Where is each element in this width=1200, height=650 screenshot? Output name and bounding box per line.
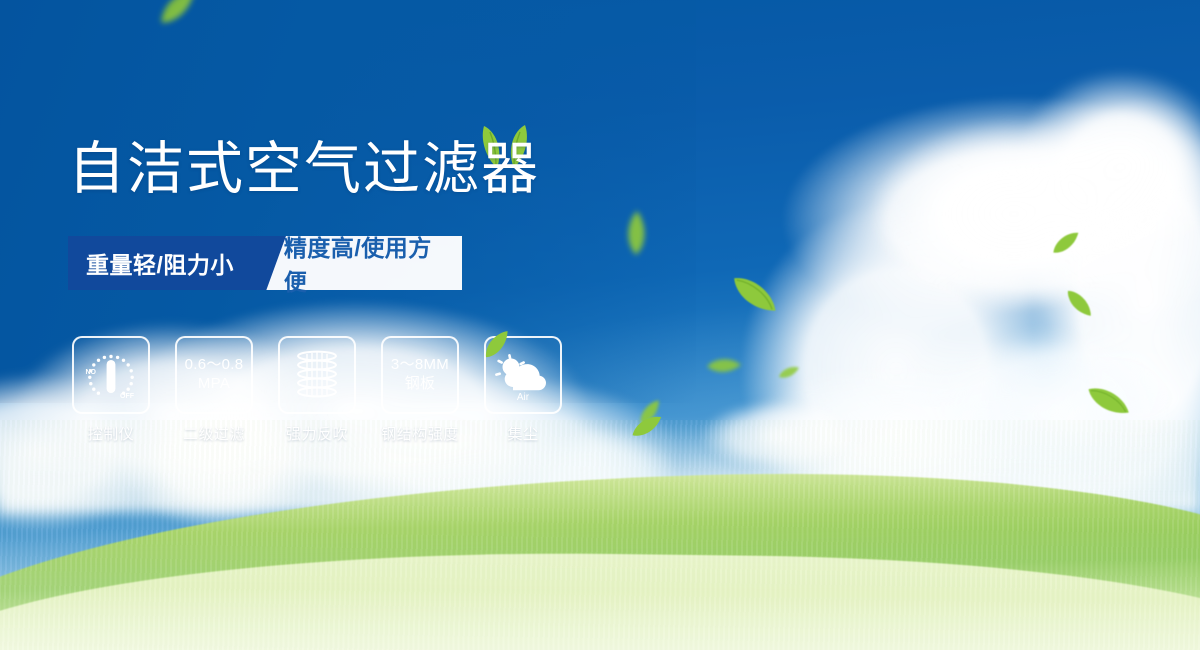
feature-label: 钢结构强度 <box>381 423 459 444</box>
feature-label: 二级过滤 <box>183 423 245 444</box>
pressure-unit: MPA <box>185 375 244 394</box>
product-hero-banner: 自洁式空气过滤器 重量轻/阻力小 精度高/使用方便 <box>0 0 1200 650</box>
pressure-value: 0.6～0.8 <box>185 356 244 375</box>
cloud-air-icon: Air <box>484 336 562 414</box>
dial-gauge-icon: NO OFF <box>72 336 150 414</box>
coil-filter-icon <box>278 336 356 414</box>
feature-item-dust[interactable]: Air 集尘 <box>485 336 561 444</box>
page-title: 自洁式空气过滤器 <box>68 141 540 198</box>
feature-icon-row: NO OFF 控制仪 0.6～0.8 MPA 二级过滤 <box>73 336 561 444</box>
svg-text:OFF: OFF <box>120 393 135 400</box>
steel-thickness: 3～8MM <box>391 356 449 375</box>
feature-item-control[interactable]: NO OFF 控制仪 <box>73 336 149 444</box>
subtitle-left-label: 重量轻/阻力小 <box>68 236 250 290</box>
cloud-air-text: Air <box>517 392 530 403</box>
feature-label: 控制仪 <box>88 423 135 444</box>
feature-item-filtration[interactable]: 0.6～0.8 MPA 二级过滤 <box>176 336 252 444</box>
steel-material: 钢板 <box>391 375 449 394</box>
svg-text:NO: NO <box>86 369 97 376</box>
feature-label: 强力反吹 <box>286 423 348 444</box>
pressure-text-icon: 0.6～0.8 MPA <box>175 336 253 414</box>
banner-content: 自洁式空气过滤器 重量轻/阻力小 精度高/使用方便 <box>0 0 1200 650</box>
subtitle-banner: 重量轻/阻力小 精度高/使用方便 <box>68 236 462 290</box>
feature-item-backblow[interactable]: 强力反吹 <box>279 336 355 444</box>
feature-item-steel[interactable]: 3～8MM 钢板 钢结构强度 <box>382 336 458 444</box>
feature-label: 集尘 <box>507 423 538 444</box>
steel-plate-text-icon: 3～8MM 钢板 <box>381 336 459 414</box>
